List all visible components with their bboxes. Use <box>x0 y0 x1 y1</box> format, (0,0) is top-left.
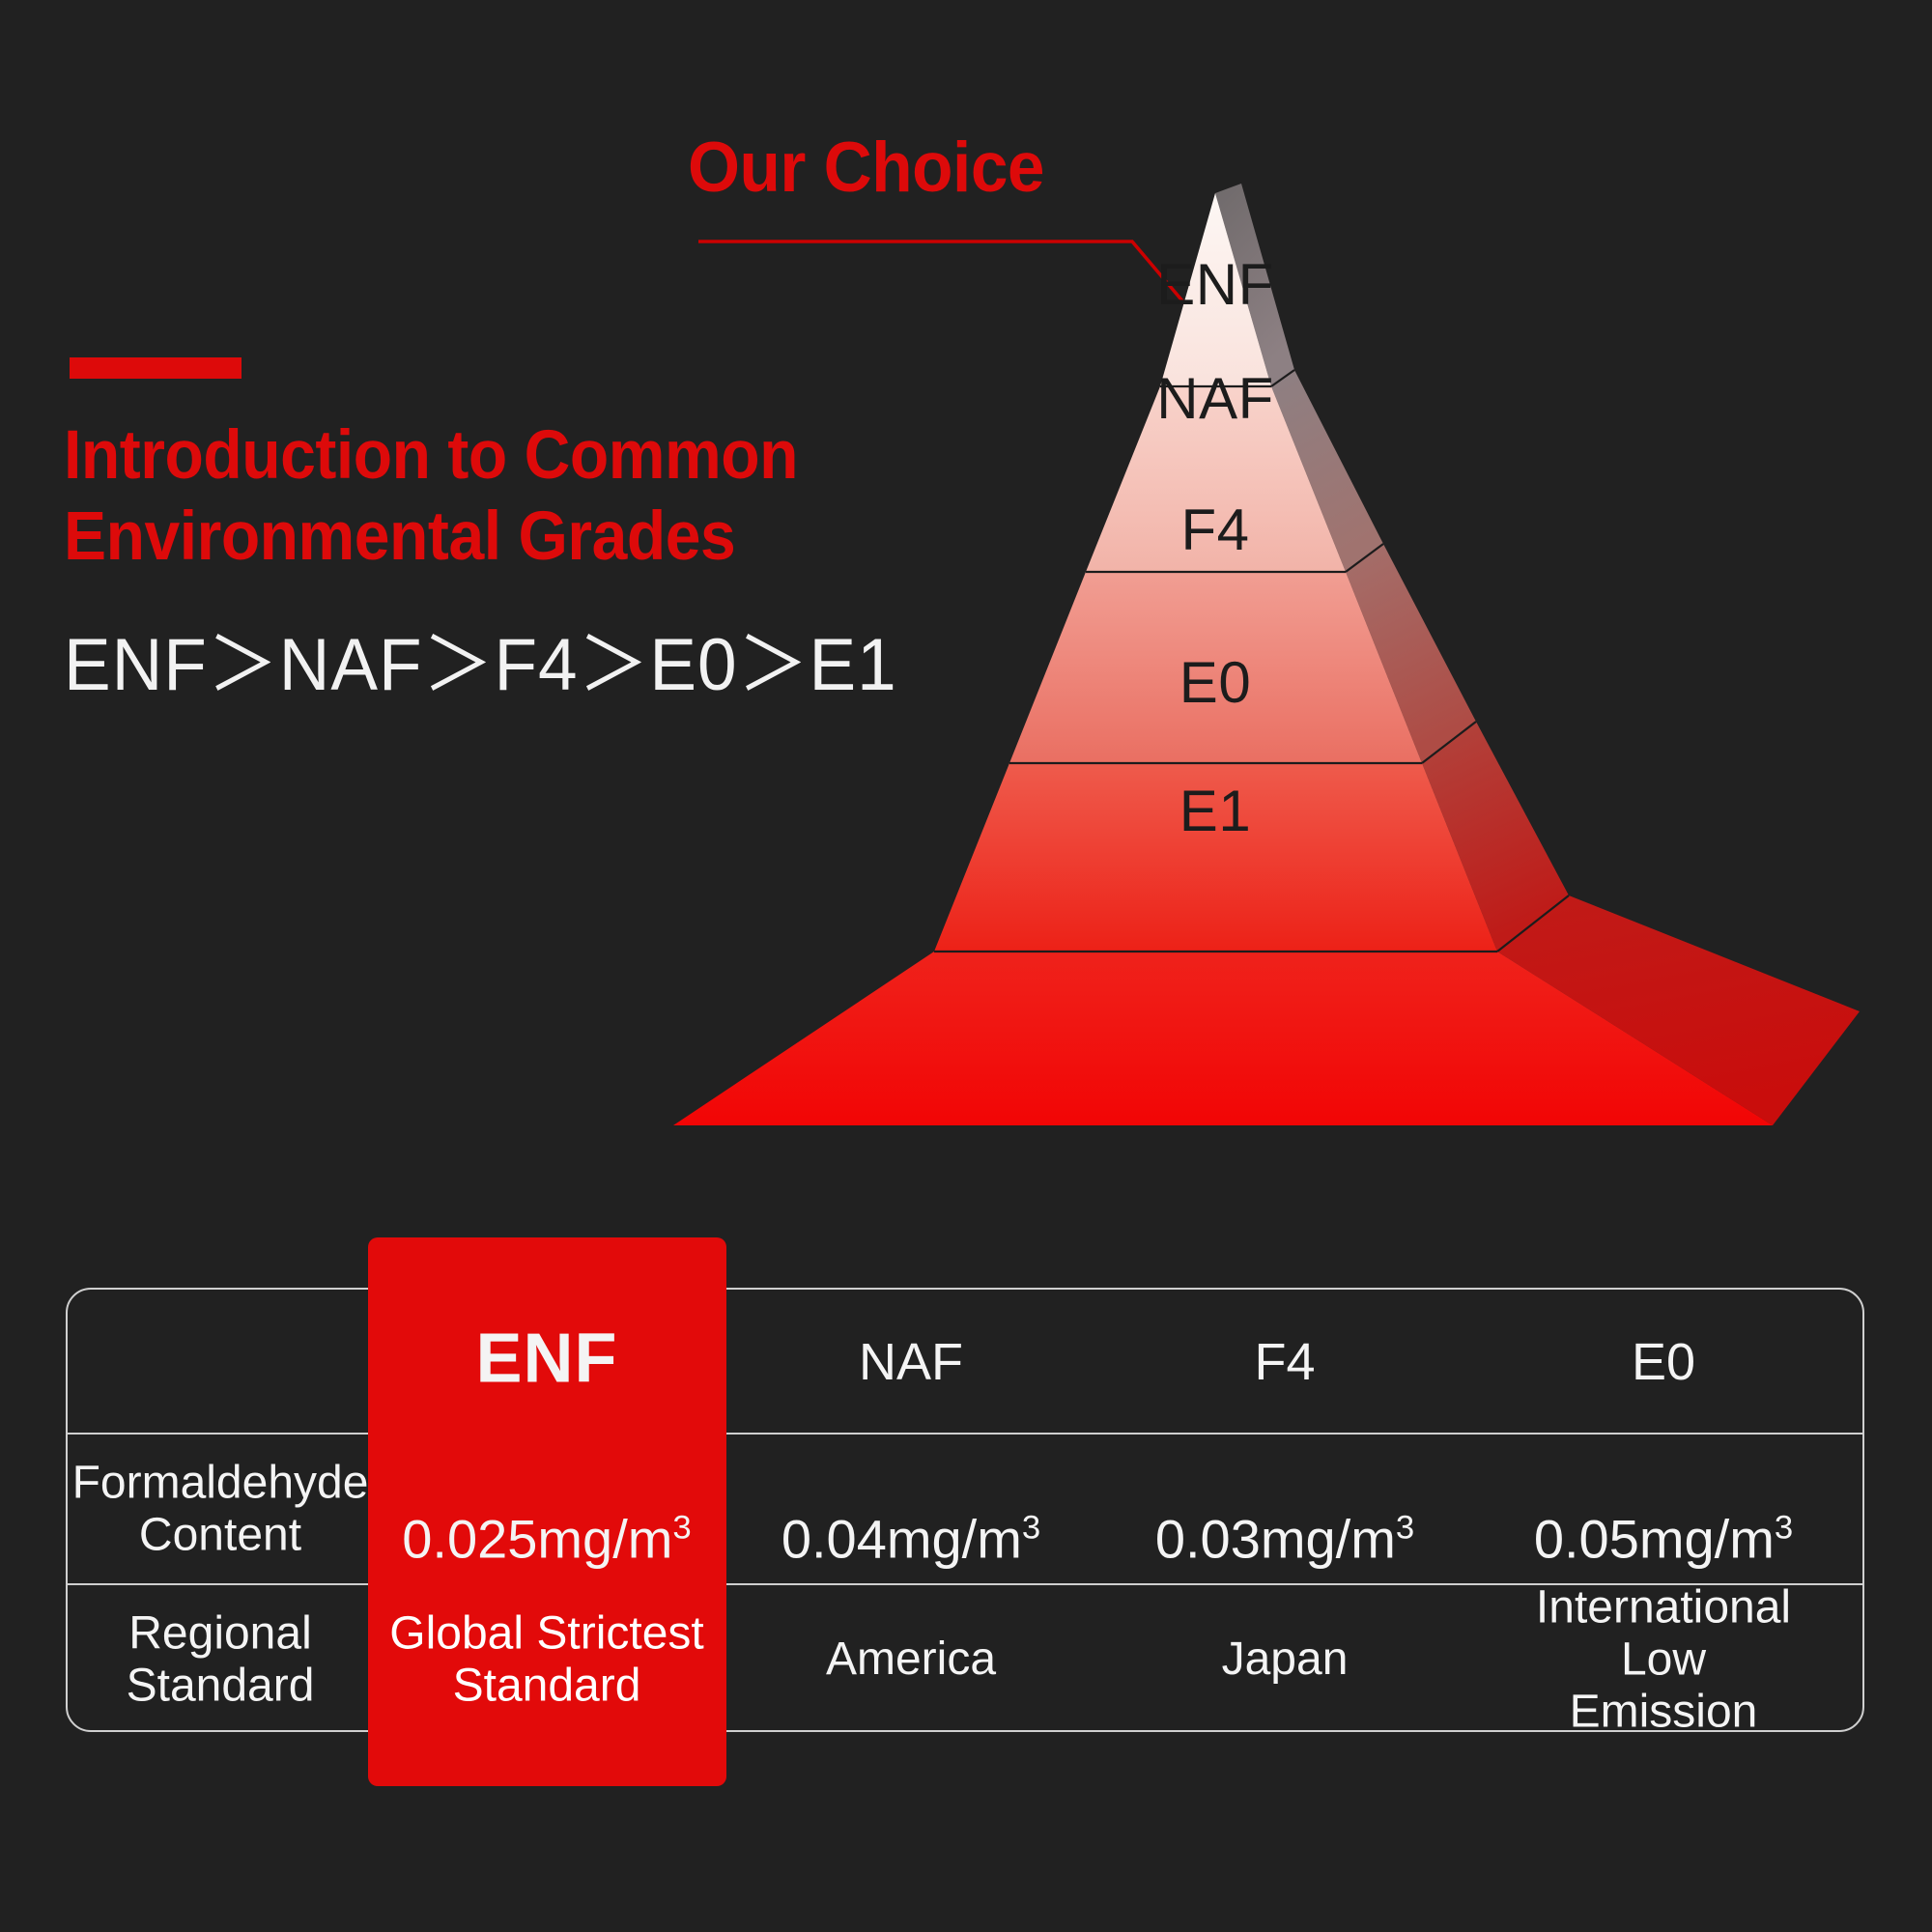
table-cell-enf-regional: Global Strictest Standard <box>389 1607 703 1712</box>
table-cell-e0-formaldehyde-number: 0.05mg/m <box>1534 1508 1775 1569</box>
table-header-enf: ENF <box>476 1321 618 1399</box>
table-cell-e0-formaldehyde-exponent: 3 <box>1775 1509 1793 1546</box>
table-header-naf: NAF <box>859 1333 963 1391</box>
table-cell-f4-formaldehyde-exponent: 3 <box>1396 1509 1414 1546</box>
table-rowheader-formaldehyde: Formaldehyde Content <box>72 1457 369 1561</box>
pyramid-label-f4: F4 <box>1180 497 1249 563</box>
table-cell-enf-formaldehyde-number: 0.025mg/m <box>402 1508 672 1569</box>
pyramid-label-naf: NAF <box>1156 365 1274 432</box>
table-cell-enf-formaldehyde-exponent: 3 <box>672 1509 691 1546</box>
table-cell-f4-formaldehyde: 0.03mg/m3 <box>1155 1448 1414 1569</box>
table-header-e0: E0 <box>1632 1333 1695 1391</box>
table-cell-f4-regional: Japan <box>1222 1634 1349 1686</box>
table-cell-e0-regional: International Low Emission <box>1529 1581 1798 1737</box>
table-cell-naf-formaldehyde: 0.04mg/m3 <box>781 1448 1040 1569</box>
table-divider-1 <box>68 1433 1862 1435</box>
table-rowheader-regional: Regional Standard <box>127 1607 315 1712</box>
table-cell-f4-formaldehyde-number: 0.03mg/m <box>1155 1508 1396 1569</box>
pyramid-label-e0: E0 <box>1179 649 1251 716</box>
table-cell-enf-formaldehyde: 0.025mg/m3 <box>402 1448 691 1569</box>
pyramid-label-enf: ENF <box>1156 251 1274 318</box>
infographic-canvas: Introduction to Common Environmental Gra… <box>0 0 1932 1932</box>
table-cell-naf-formaldehyde-number: 0.04mg/m <box>781 1508 1022 1569</box>
table-cell-naf-regional: America <box>826 1634 996 1686</box>
table-cell-e0-formaldehyde: 0.05mg/m3 <box>1534 1448 1793 1569</box>
table-cell-naf-formaldehyde-exponent: 3 <box>1022 1509 1040 1546</box>
table-header-f4: F4 <box>1254 1333 1315 1391</box>
pyramid-label-e1: E1 <box>1179 778 1251 844</box>
